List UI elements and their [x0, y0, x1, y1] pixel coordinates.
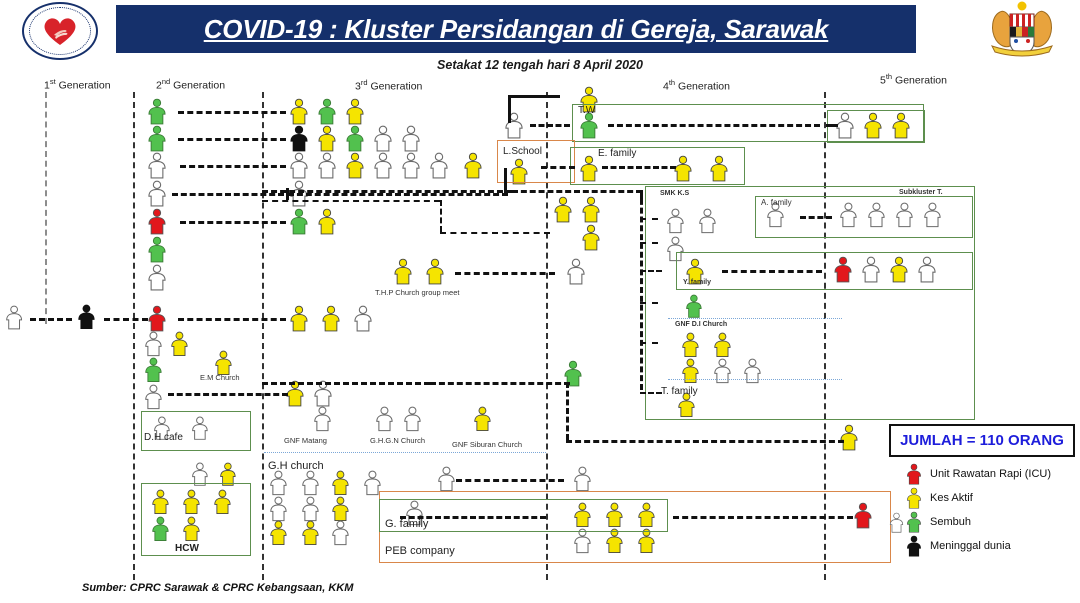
person-icon-white: [143, 384, 164, 411]
trunk-h2: [512, 190, 642, 193]
person-icon-active: [316, 208, 338, 236]
branch-h2: [440, 232, 550, 234]
group-label-gnfmatang: GNF Matang: [284, 436, 327, 445]
connector-g2-r1: [178, 111, 286, 114]
person-icon-recovered: [146, 236, 168, 264]
person-icon-white: [372, 125, 394, 153]
person-icon-active: [392, 258, 414, 286]
source-note: Sumber: CPRC Sarawak & CPRC Kebangsaan, …: [82, 582, 353, 594]
connector-afamily: [800, 216, 832, 219]
group-label-smkks: SMK K.S: [660, 190, 689, 197]
person-icon-white: [4, 305, 24, 331]
branch-h3: [288, 193, 508, 196]
group-label-dhcafe: D.H cafe: [144, 432, 183, 443]
person-icon-active: [424, 258, 446, 286]
person-icon-died: [76, 304, 97, 331]
person-icon-white: [146, 152, 168, 180]
branch-h1: [262, 200, 440, 202]
connector-lschool: [541, 166, 575, 169]
person-icon-active: [580, 224, 602, 252]
smk-b4: [640, 302, 658, 304]
person-icon-white: [374, 406, 395, 433]
person-icon-white: [146, 180, 168, 208]
group-label-thp: T.H.P Church group meet: [375, 288, 460, 297]
legend-label-recovered: Sembuh: [930, 516, 971, 528]
person-icon-white: [288, 152, 310, 180]
connector-g2-r2: [178, 138, 286, 141]
group-box-yfamily: [676, 252, 973, 290]
total-text: JUMLAH = 110 ORANG: [900, 432, 1064, 449]
person-icon-recovered: [146, 98, 168, 126]
generation-label-5: 5th Generation: [880, 72, 947, 87]
trunk-h: [262, 190, 512, 193]
person-icon-white: [146, 264, 168, 292]
person-icon-recovered: [316, 98, 338, 126]
person-icon-white: [143, 331, 164, 358]
person-icon-white: [572, 466, 593, 493]
person-icon-active: [330, 470, 351, 497]
person-icon-active: [268, 520, 289, 547]
person-icon-active: [462, 152, 484, 180]
group-box-dhcafe: [141, 411, 251, 451]
connector-g2-r6: [178, 318, 286, 321]
divider-ghchurch: [264, 452, 546, 453]
person-icon-active: [344, 152, 366, 180]
group-label-ghchurch: G.H church: [268, 460, 324, 472]
connector-gen1: [30, 318, 72, 321]
connector-gen1b: [104, 318, 148, 321]
person-icon-active: [320, 305, 342, 333]
center-bracket-v: [566, 382, 569, 440]
connector-top-v: [508, 95, 511, 123]
person-icon-icu: [905, 463, 923, 486]
generation-separator-2: [133, 92, 135, 580]
group-label-gnfsiburan: GNF Siburan Church: [452, 440, 522, 449]
center-bracket-h: [566, 440, 844, 443]
person-icon-white: [330, 520, 351, 547]
smk-b1: [640, 218, 658, 220]
divider-gnfdi-bottom: [668, 379, 842, 380]
group-label-pebcompany: PEB company: [385, 545, 455, 557]
trunk-v: [640, 190, 643, 390]
connector-g2-r7: [168, 393, 288, 396]
person-icon-white: [400, 125, 422, 153]
group-label-yfamily: Y. family: [683, 279, 711, 286]
person-icon-white: [428, 152, 450, 180]
person-icon-white: [316, 152, 338, 180]
generation-separator-1: [45, 92, 47, 324]
legend-item-icu: Unit Rawatan Rapi (ICU): [905, 462, 1080, 486]
divider-gnfdi-top: [668, 318, 842, 319]
connector-g2-r4: [172, 193, 284, 196]
total-box: JUMLAH = 110 ORANG: [889, 424, 1075, 457]
connector-efamily: [602, 166, 676, 169]
person-icon-white: [402, 406, 423, 433]
connector-top-l: [508, 95, 560, 98]
person-icon-active: [580, 196, 602, 224]
center-bracket-in: [430, 382, 570, 385]
generation-label-1: 1st Generation: [44, 77, 111, 92]
connector-tw-5th: [608, 124, 820, 127]
generation-label-4: 4th Generation: [663, 78, 730, 93]
person-icon-recovered: [143, 357, 164, 384]
generation-label-3: 3rd Generation: [355, 78, 422, 93]
person-icon-white: [268, 470, 289, 497]
person-icon-active: [169, 331, 190, 358]
person-icon-white: [300, 496, 321, 523]
branch-v2: [440, 200, 442, 232]
subtitle-date: Setakat 12 tengah hari 8 April 2020: [0, 58, 1080, 72]
center-bracket-in2: [262, 382, 430, 385]
person-icon-icu: [146, 208, 168, 236]
title-bar: COVID-19 : Kluster Persidangan di Gereja…: [116, 5, 916, 53]
connector-gfamily-in: [400, 516, 546, 519]
smk-b6: [640, 392, 662, 394]
person-icon-active: [288, 305, 310, 333]
group-label-lschool: L.School: [503, 146, 542, 157]
person-icon-icu: [146, 305, 168, 333]
group-label-hcw: HCW: [175, 543, 199, 554]
person-icon-recovered: [344, 125, 366, 153]
person-icon-white: [400, 152, 422, 180]
connector-thp: [455, 272, 555, 275]
person-icon-recovered: [288, 208, 310, 236]
person-icon-recovered: [146, 125, 168, 153]
person-icon-active: [472, 406, 493, 433]
person-icon-white: [436, 466, 457, 493]
malaysia-coat-of-arms: [982, 0, 1062, 58]
person-icon-white: [888, 512, 905, 534]
person-icon-active: [905, 487, 923, 510]
person-icon-active: [330, 496, 351, 523]
person-icon-active: [300, 520, 321, 547]
legend-label-died: Meninggal dunia: [930, 540, 1011, 552]
person-icon-died: [288, 125, 310, 153]
generation-label-2: 2nd Generation: [156, 77, 225, 92]
group-label-gfamily: G. family: [385, 518, 428, 530]
smk-b5: [640, 342, 658, 344]
connector-tw-in: [530, 124, 570, 127]
person-icon-white: [268, 496, 289, 523]
smk-b3: [640, 270, 662, 272]
legend-item-died: Meninggal dunia: [905, 534, 1080, 558]
legend-label-active: Kes Aktif: [930, 492, 973, 504]
person-icon-white: [503, 112, 525, 140]
connector-g2-r3: [180, 165, 286, 168]
group-label-emchurch: E.M Church: [200, 373, 240, 382]
group-label-ghgn: G.H.G.N Church: [370, 436, 425, 445]
person-icon-active: [838, 424, 860, 452]
person-icon-white: [352, 305, 374, 333]
person-icon-died: [905, 535, 923, 558]
person-icon-white: [312, 406, 333, 433]
person-icon-white: [300, 470, 321, 497]
legend: Unit Rawatan Rapi (ICU) Kes Aktif Sembuh…: [905, 462, 1080, 558]
person-icon-active: [344, 98, 366, 126]
group-label-tfamily: T. family: [661, 386, 698, 397]
connector-ghchurch: [456, 479, 564, 482]
group-label-efamily: E. family: [598, 148, 636, 159]
page-header: COVID-19 : Kluster Persidangan di Gereja…: [0, 0, 1080, 58]
group-label-afamily: A. family: [761, 198, 792, 207]
smk-b2: [640, 242, 658, 244]
group-label-gnfdi: GNF D.I Church: [675, 321, 727, 328]
connector-g2-r5: [180, 221, 286, 224]
person-icon-active: [316, 125, 338, 153]
group-label-tw: T.W: [578, 105, 595, 116]
connector-tw-5th-b: [826, 124, 838, 127]
person-icon-white: [372, 152, 394, 180]
page-title: COVID-19 : Kluster Persidangan di Gereja…: [204, 14, 829, 45]
person-icon-active: [552, 196, 574, 224]
group-box-gen5-tw: [827, 110, 925, 143]
person-icon-white: [565, 258, 587, 286]
group-label-subkluster: Subkluster T.: [899, 189, 943, 196]
connector-gfamily-out: [673, 516, 853, 519]
person-icon-recovered: [905, 511, 923, 534]
person-icon-active: [288, 98, 310, 126]
legend-label-icu: Unit Rawatan Rapi (ICU): [930, 468, 1051, 480]
connector-yfamily: [722, 270, 822, 273]
moh-malaysia-logo: [22, 2, 98, 60]
legend-item-recovered: Sembuh: [905, 510, 1080, 534]
legend-item-active: Kes Aktif: [905, 486, 1080, 510]
